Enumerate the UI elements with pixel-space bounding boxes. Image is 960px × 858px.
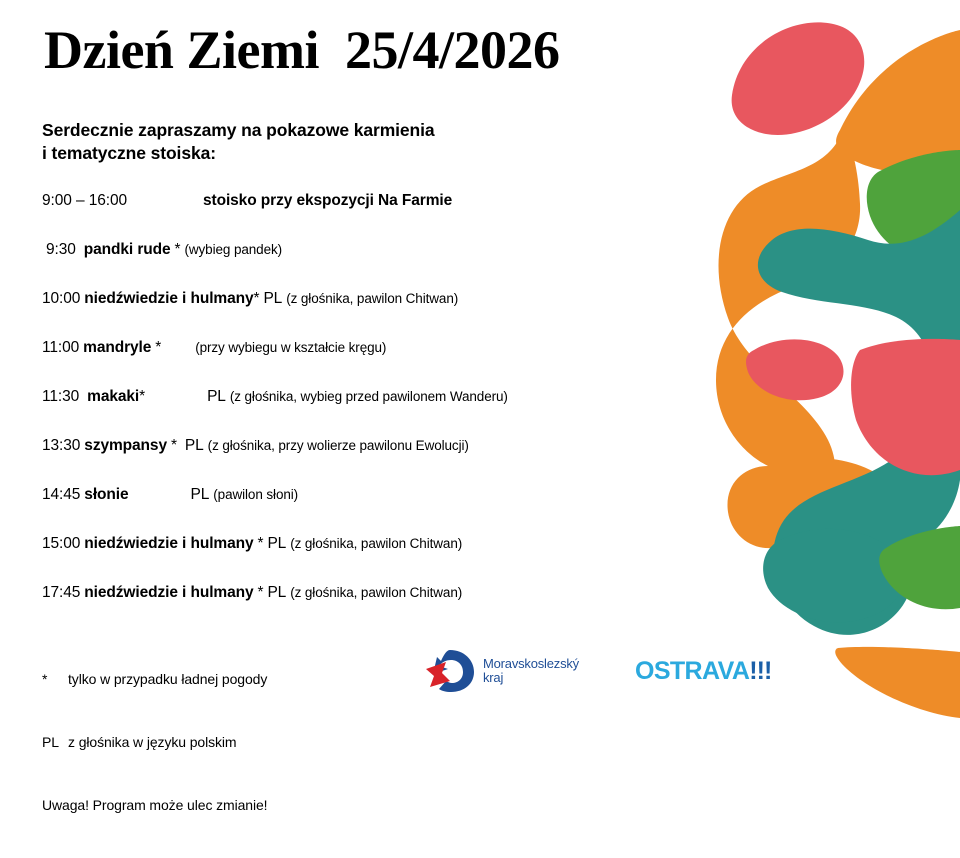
weather-asterisk: *	[258, 584, 264, 601]
footnote-asterisk-text: tylko w przypadku ładnej pogody	[68, 671, 267, 687]
schedule-time: 11:30	[42, 388, 79, 405]
intro-text: Serdecznie zapraszamy na pokazowe karmie…	[42, 119, 435, 165]
leaf-teal-lower	[763, 529, 905, 622]
intro-line-1: Serdecznie zapraszamy na pokazowe karmie…	[42, 119, 435, 142]
schedule-title: niedźwiedzie i hulmany	[84, 290, 253, 307]
weather-asterisk: *	[258, 535, 264, 552]
schedule-title: słonie	[84, 486, 128, 503]
schedule-time: 15:00	[42, 535, 80, 552]
schedule-time: 14:45	[42, 486, 80, 503]
schedule-time: 11:00	[42, 339, 79, 356]
schedule-row-stand: 9:00 – 16:00stoisko przy ekspozycji Na F…	[42, 192, 742, 241]
intro-line-2: i tematyczne stoiska:	[42, 142, 435, 165]
leaf-red-mid	[851, 339, 960, 475]
schedule-title: makaki	[87, 388, 139, 405]
schedule-place: (z głośnika, pawilon Chitwan)	[290, 536, 462, 551]
schedule-title: mandryle	[83, 339, 151, 356]
schedule-time: 17:45	[42, 584, 80, 601]
schedule-time: 13:30	[42, 437, 80, 454]
schedule-place: (z głośnika, przy wolierze pawilonu Ewol…	[208, 438, 469, 453]
weather-asterisk: *	[254, 290, 260, 307]
logo-strip: Moravskoslezský kraj OSTRAVA!!!	[424, 643, 771, 699]
schedule-row-szympansy: 13:30szympansy*PL(z głośnika, przy wolie…	[42, 437, 742, 486]
polish-audio-marker: PL	[207, 388, 226, 405]
schedule-place: (z głośnika, pawilon Chitwan)	[286, 291, 458, 306]
logo-moravskoslezsky-kraj: Moravskoslezský kraj	[424, 649, 579, 693]
schedule-place: (z głośnika, wybieg przed pawilonem Wand…	[230, 389, 508, 404]
footnotes: *tylko w przypadku ładnej pogody PLz gło…	[42, 627, 267, 858]
schedule-title: stoisko przy ekspozycji Na Farmie	[203, 192, 452, 209]
weather-asterisk: *	[139, 388, 145, 405]
weather-asterisk: *	[155, 339, 161, 356]
schedule-row-pandki-rude: 9:30pandki rude*(wybieg pandek)	[42, 241, 742, 290]
footnote-asterisk-key: *	[42, 669, 68, 690]
footnote-pl-key: PL	[42, 732, 68, 753]
logo-ostrava: OSTRAVA!!!	[635, 657, 771, 686]
leaf-red-small	[746, 339, 844, 400]
schedule-place: (z głośnika, pawilon Chitwan)	[290, 585, 462, 600]
schedule-time: 9:00 – 16:00	[42, 192, 127, 209]
schedule-row-makaki: 11:30makaki*PL(z głośnika, wybieg przed …	[42, 388, 742, 437]
polish-audio-marker: PL	[267, 535, 286, 552]
moravskoslezsky-kraj-wordmark: Moravskoslezský kraj	[483, 657, 579, 685]
ostrava-exclamations: !!!	[749, 657, 771, 685]
leaf-orange-bottom	[835, 647, 960, 718]
footnote-warning: Uwaga! Program może ulec zmianie!	[42, 795, 267, 816]
schedule-title: niedźwiedzie i hulmany	[84, 535, 253, 552]
leaf-green-mid	[867, 150, 960, 263]
schedule-row-niedzwiedzie-1500: 15:00niedźwiedzie i hulmany*PL(z głośnik…	[42, 535, 742, 584]
page-title: Dzień Ziemi 25/4/2026	[44, 22, 559, 79]
schedule-title: niedźwiedzie i hulmany	[84, 584, 253, 601]
leaf-orange-upper	[836, 30, 960, 174]
weather-asterisk: *	[175, 241, 181, 258]
weather-asterisk: *	[171, 437, 177, 454]
schedule-time: 9:30	[46, 241, 76, 258]
poster-content: Dzień Ziemi 25/4/2026 Serdecznie zaprasz…	[0, 0, 760, 720]
schedule-row-niedzwiedzie-1000: 10:00niedźwiedzie i hulmany*PL(z głośnik…	[42, 290, 742, 339]
ostrava-wordmark: OSTRAVA	[635, 657, 749, 685]
polish-audio-marker: PL	[191, 486, 210, 503]
schedule-place: (przy wybiegu w kształcie kręgu)	[195, 340, 386, 355]
footnote-pl-text: z głośnika w języku polskim	[68, 734, 236, 750]
moravskoslezsky-kraj-mark	[424, 649, 476, 693]
leaf-teal-vine	[758, 210, 960, 635]
schedule-time: 10:00	[42, 290, 80, 307]
polish-audio-marker: PL	[267, 584, 286, 601]
schedule-row-niedzwiedzie-1745: 17:45niedźwiedzie i hulmany*PL(z głośnik…	[42, 584, 742, 633]
schedule-row-mandryle: 11:00mandryle*(przy wybiegu w kształcie …	[42, 339, 742, 388]
schedule-list: 9:00 – 16:00stoisko przy ekspozycji Na F…	[42, 192, 742, 633]
footnote-polish: PLz głośnika w języku polskim	[42, 732, 267, 753]
leaf-green-bottom	[879, 526, 960, 609]
leaf-orange-lower	[746, 458, 898, 549]
schedule-place: (pawilon słoni)	[213, 487, 298, 502]
schedule-row-slonie: 14:45słoniePL(pawilon słoni)	[42, 486, 742, 535]
schedule-title: szympansy	[84, 437, 167, 454]
polish-audio-marker: PL	[185, 437, 204, 454]
footnote-weather: *tylko w przypadku ładnej pogody	[42, 669, 267, 690]
polish-audio-marker: PL	[263, 290, 282, 307]
schedule-title: pandki rude	[84, 241, 171, 258]
schedule-place: (wybieg pandek)	[184, 242, 282, 257]
